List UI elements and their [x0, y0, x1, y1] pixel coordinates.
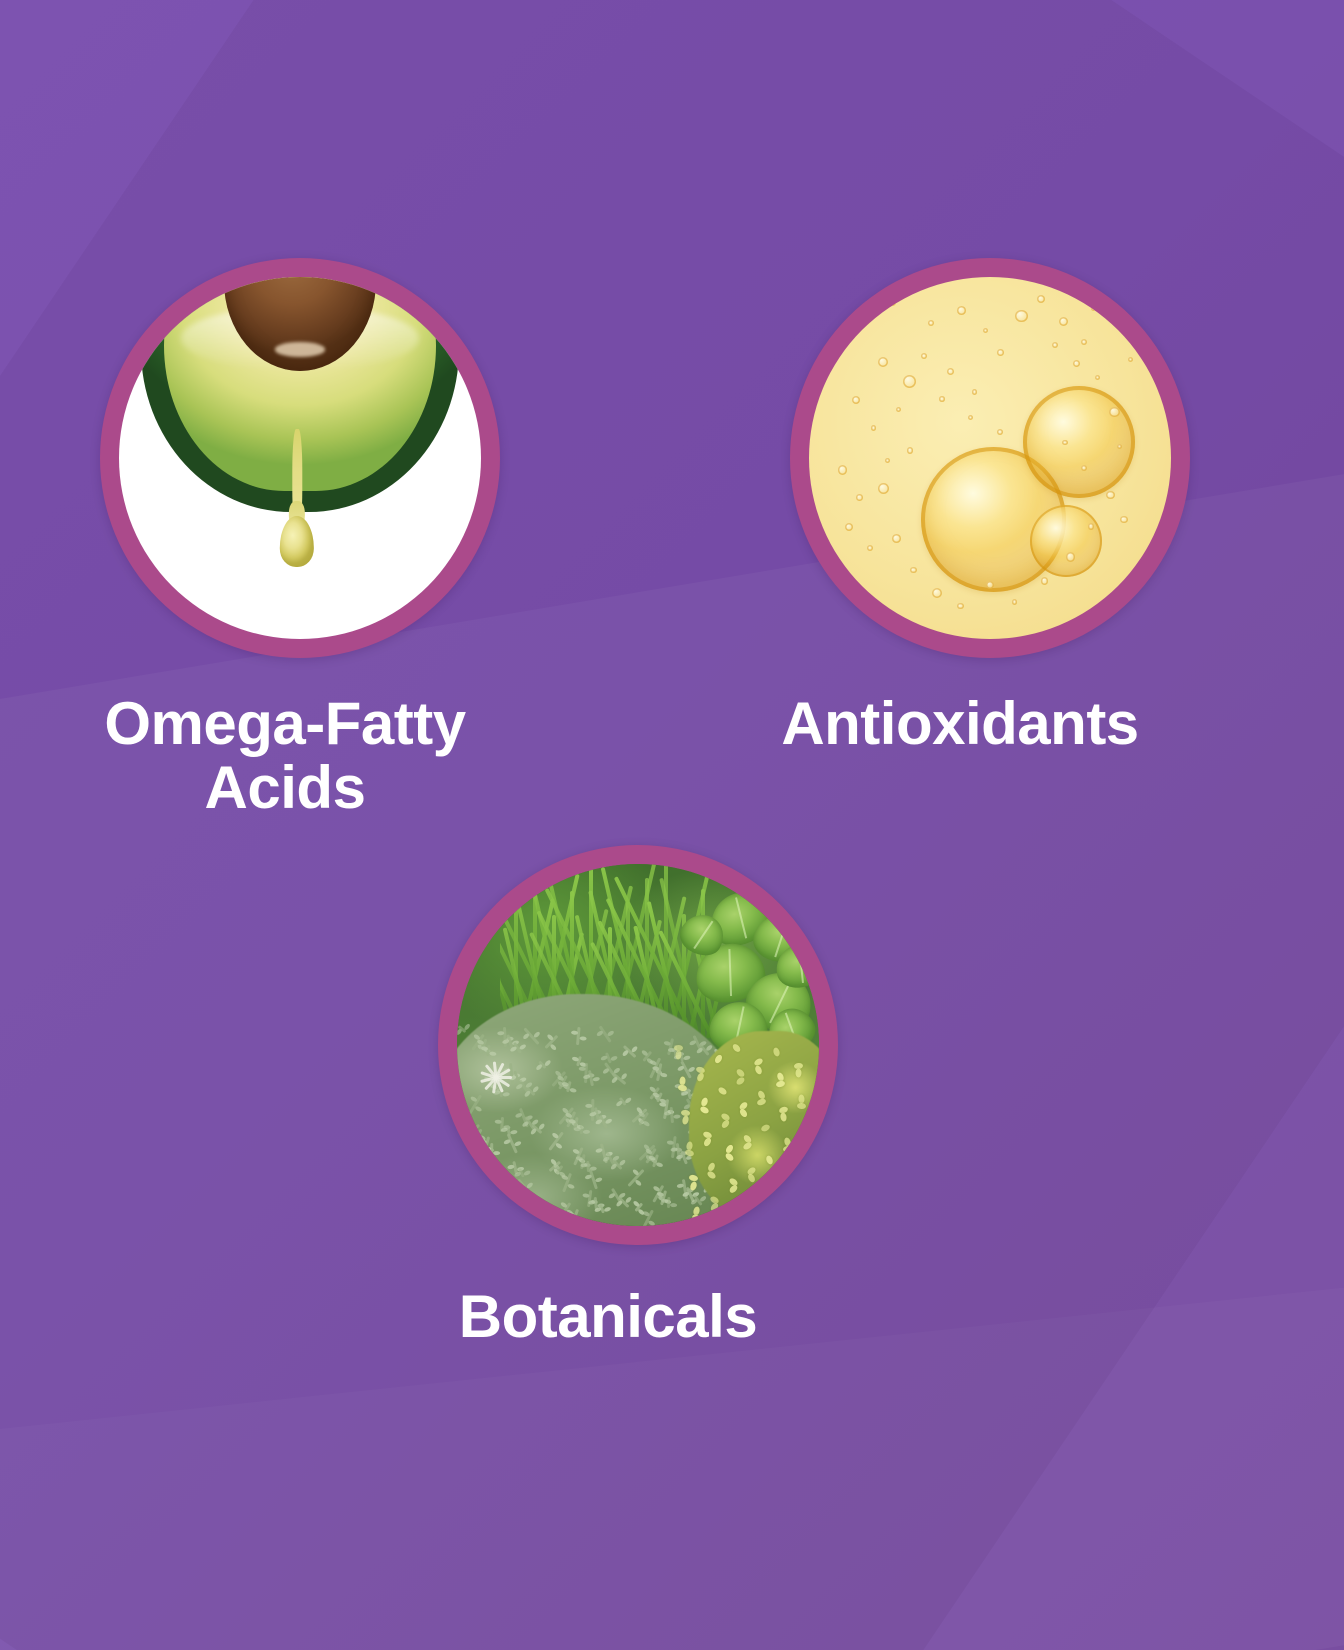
oil-microbubble — [1052, 342, 1058, 348]
oil-microbubble — [1095, 375, 1100, 380]
golden-herb-leaf — [795, 1069, 801, 1078]
golden-herb-leaf — [724, 1151, 735, 1161]
oil-microbubble — [878, 357, 888, 367]
oil-microbubble — [845, 523, 853, 531]
golden-herb-leaf — [731, 1043, 741, 1054]
badge-ring-botanicals — [438, 845, 838, 1245]
golden-herb-leaf — [754, 1064, 763, 1075]
oil-microbubble — [885, 458, 890, 463]
oil-microbubble — [878, 483, 889, 494]
oil-microbubble — [852, 396, 860, 404]
oil-microbubble — [928, 320, 934, 326]
golden-herb-leaf — [682, 1115, 690, 1125]
oil-microbubble — [889, 299, 896, 306]
golden-herb-leaf — [721, 1119, 731, 1130]
oil-microbubble — [947, 368, 954, 375]
ingredient-badge-botanicals: Botanicals — [438, 845, 838, 1349]
soil-patch — [725, 1183, 812, 1226]
oil-microbubble — [896, 407, 901, 412]
oil-microbubble — [921, 353, 927, 359]
avocado-pit-highlight — [275, 342, 326, 356]
golden-herb-leaf — [802, 1134, 809, 1144]
golden-herb-leaf — [691, 1214, 702, 1223]
oil-microbubble — [1091, 306, 1096, 311]
golden-herb-leaf — [739, 1108, 749, 1119]
ingredient-highlights-panel: Omega-Fatty Acids Antioxidants Botanical… — [0, 0, 1344, 1650]
golden-herb-leaf — [780, 1112, 788, 1122]
oil-microbubble — [968, 415, 973, 420]
golden-herb-leaf — [689, 1180, 698, 1191]
golden-herb-leaf — [710, 1202, 720, 1213]
badge-ring-omega — [100, 258, 500, 658]
oil-microbubble — [856, 494, 863, 501]
golden-herb-leaf — [699, 1105, 710, 1115]
oil-microbubble — [1106, 491, 1115, 500]
golden-oil-bubbles-photo — [809, 277, 1171, 639]
golden-herb-leaf — [801, 1128, 810, 1134]
oil-microbubble — [957, 603, 963, 609]
golden-herb-leaf — [684, 1149, 694, 1157]
oil-microbubble — [972, 389, 977, 394]
oil-microbubble — [1015, 310, 1027, 322]
golden-herb-leaf — [775, 1080, 785, 1088]
golden-herb-leaf — [675, 1050, 682, 1060]
oil-microbubble — [1062, 440, 1067, 445]
oil-microbubble — [1081, 465, 1087, 471]
oil-microbubble — [1041, 577, 1048, 584]
oil-microbubble — [1037, 295, 1045, 303]
golden-herb-leaf — [714, 1053, 724, 1064]
golden-herb-leaf — [717, 1086, 728, 1096]
oil-microbubble — [1120, 516, 1127, 523]
golden-herb-leaf — [782, 1146, 792, 1153]
oil-microbubble — [903, 375, 916, 388]
golden-herb-leaf — [703, 1137, 713, 1148]
golden-herb-leaf — [735, 1075, 746, 1085]
badge-label-omega-fatty-acids: Omega-Fatty Acids — [55, 692, 515, 819]
oil-microbubble — [939, 396, 944, 401]
oil-microbubble — [1066, 552, 1075, 561]
oil-microbubble — [907, 447, 914, 454]
oil-microbubble — [932, 588, 942, 598]
golden-herb-leaf — [760, 1123, 771, 1132]
golden-herb-leaves — [457, 864, 819, 1226]
golden-herb-leaf — [806, 1159, 812, 1168]
oil-microbubble — [838, 465, 847, 474]
oil-microbubble — [860, 313, 872, 325]
golden-herb-leaf — [757, 1098, 768, 1107]
oil-microbubble — [997, 429, 1003, 435]
golden-herb-leaf — [706, 1170, 717, 1180]
oil-microbubble — [1012, 599, 1017, 604]
oil-microbubble — [1059, 317, 1068, 326]
oil-microbubble — [1109, 407, 1119, 417]
oil-microbubble — [1088, 523, 1095, 530]
oil-microbubble — [910, 567, 917, 574]
golden-herb-leaf — [696, 1072, 705, 1083]
oil-microbubble — [997, 349, 1004, 356]
golden-herb-leaf — [765, 1155, 774, 1166]
badge-label-antioxidants: Antioxidants — [700, 692, 1220, 756]
golden-herb-leaf — [677, 1084, 687, 1092]
badge-ring-antioxidants — [790, 258, 1190, 658]
oil-microbubble — [957, 306, 966, 315]
oil-microbubble — [892, 534, 901, 543]
oil-bubble — [1030, 505, 1102, 577]
golden-herb-leaf — [798, 1094, 805, 1103]
badge-label-botanicals: Botanicals — [348, 1285, 868, 1349]
oil-bubble — [1023, 386, 1135, 498]
golden-herb-leaf — [742, 1141, 753, 1151]
white-flower — [479, 1059, 513, 1093]
green-herbs-photo — [457, 864, 819, 1226]
golden-herb-leaf — [797, 1103, 806, 1110]
oil-microbubble — [1128, 357, 1133, 362]
ingredient-badge-omega-fatty-acids: Omega-Fatty Acids — [100, 258, 500, 819]
oil-microbubble — [871, 425, 877, 431]
avocado-with-dripping-oil-photo — [119, 277, 481, 639]
ingredient-badge-antioxidants: Antioxidants — [790, 258, 1190, 756]
oil-microbubble — [867, 545, 873, 551]
golden-herb-leaf — [772, 1046, 780, 1056]
oil-microbubble — [1081, 339, 1088, 346]
oil-droplet — [280, 516, 314, 567]
oil-microbubble — [983, 328, 988, 333]
oil-microbubble — [1073, 360, 1080, 367]
